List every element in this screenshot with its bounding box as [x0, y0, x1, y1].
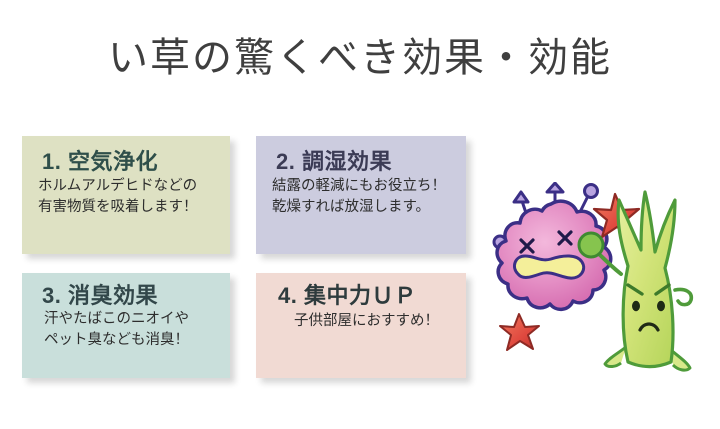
- benefit-card-heading: 2. 調湿効果: [276, 150, 466, 174]
- germ-antenna-top-right: [581, 185, 598, 211]
- grass-leg-right: [671, 350, 690, 370]
- benefit-card-body: 子供部屋におすすめ！: [294, 311, 466, 332]
- benefit-card-body-line: ホルムアルデヒドなどの: [38, 176, 230, 197]
- grass-body: [618, 192, 675, 367]
- benefit-card-body: ホルムアルデヒドなどの 有害物質を吸着します！: [38, 176, 230, 218]
- benefit-card-heading: 4. 集中力ＵＰ: [278, 284, 466, 308]
- benefit-card-humidity-control: 2. 調湿効果 結露の軽減にもお役立ち！ 乾燥すれば放湿します。: [256, 136, 466, 254]
- benefit-card-deodorizing: 3. 消臭効果 汗やたばこのニオイや ペット臭なども消臭！: [22, 273, 230, 378]
- grass-arm-right-bent: [675, 289, 691, 304]
- illustration-germ-vs-igusa: [485, 182, 710, 387]
- benefit-card-air-purification: 1. 空気浄化 ホルムアルデヒドなどの 有害物質を吸着します！: [22, 136, 230, 254]
- benefit-card-concentration-up: 4. 集中力ＵＰ 子供部屋におすすめ！: [256, 273, 466, 378]
- grass-eye-left: [632, 301, 640, 311]
- benefit-card-body-line: 乾燥すれば放湿します。: [272, 197, 466, 218]
- impact-star-lower: [500, 314, 539, 350]
- benefit-card-body-line: 汗やたばこのニオイや: [44, 309, 230, 330]
- grass-leg-left: [605, 347, 626, 367]
- benefit-card-body-line: ペット臭なども消臭！: [44, 330, 230, 351]
- benefit-card-body-line: 結露の軽減にもお役立ち！: [272, 176, 466, 197]
- benefit-card-body-line: 子供部屋におすすめ！: [294, 311, 466, 332]
- benefit-card-body-line: 有害物質を吸着します！: [38, 197, 230, 218]
- page-title: い草の驚くべき効果・効能: [0, 34, 720, 82]
- grass-eye-right: [657, 301, 665, 311]
- benefit-card-body: 結露の軽減にもお役立ち！ 乾燥すれば放湿します。: [272, 176, 466, 218]
- benefit-card-heading: 3. 消臭効果: [42, 284, 230, 308]
- benefit-card-body: 汗やたばこのニオイや ペット臭なども消臭！: [44, 309, 230, 351]
- benefit-card-heading: 1. 空気浄化: [42, 150, 230, 174]
- infographic-root: い草の驚くべき効果・効能 1. 空気浄化 ホルムアルデヒドなどの 有害物質を吸着…: [0, 0, 720, 429]
